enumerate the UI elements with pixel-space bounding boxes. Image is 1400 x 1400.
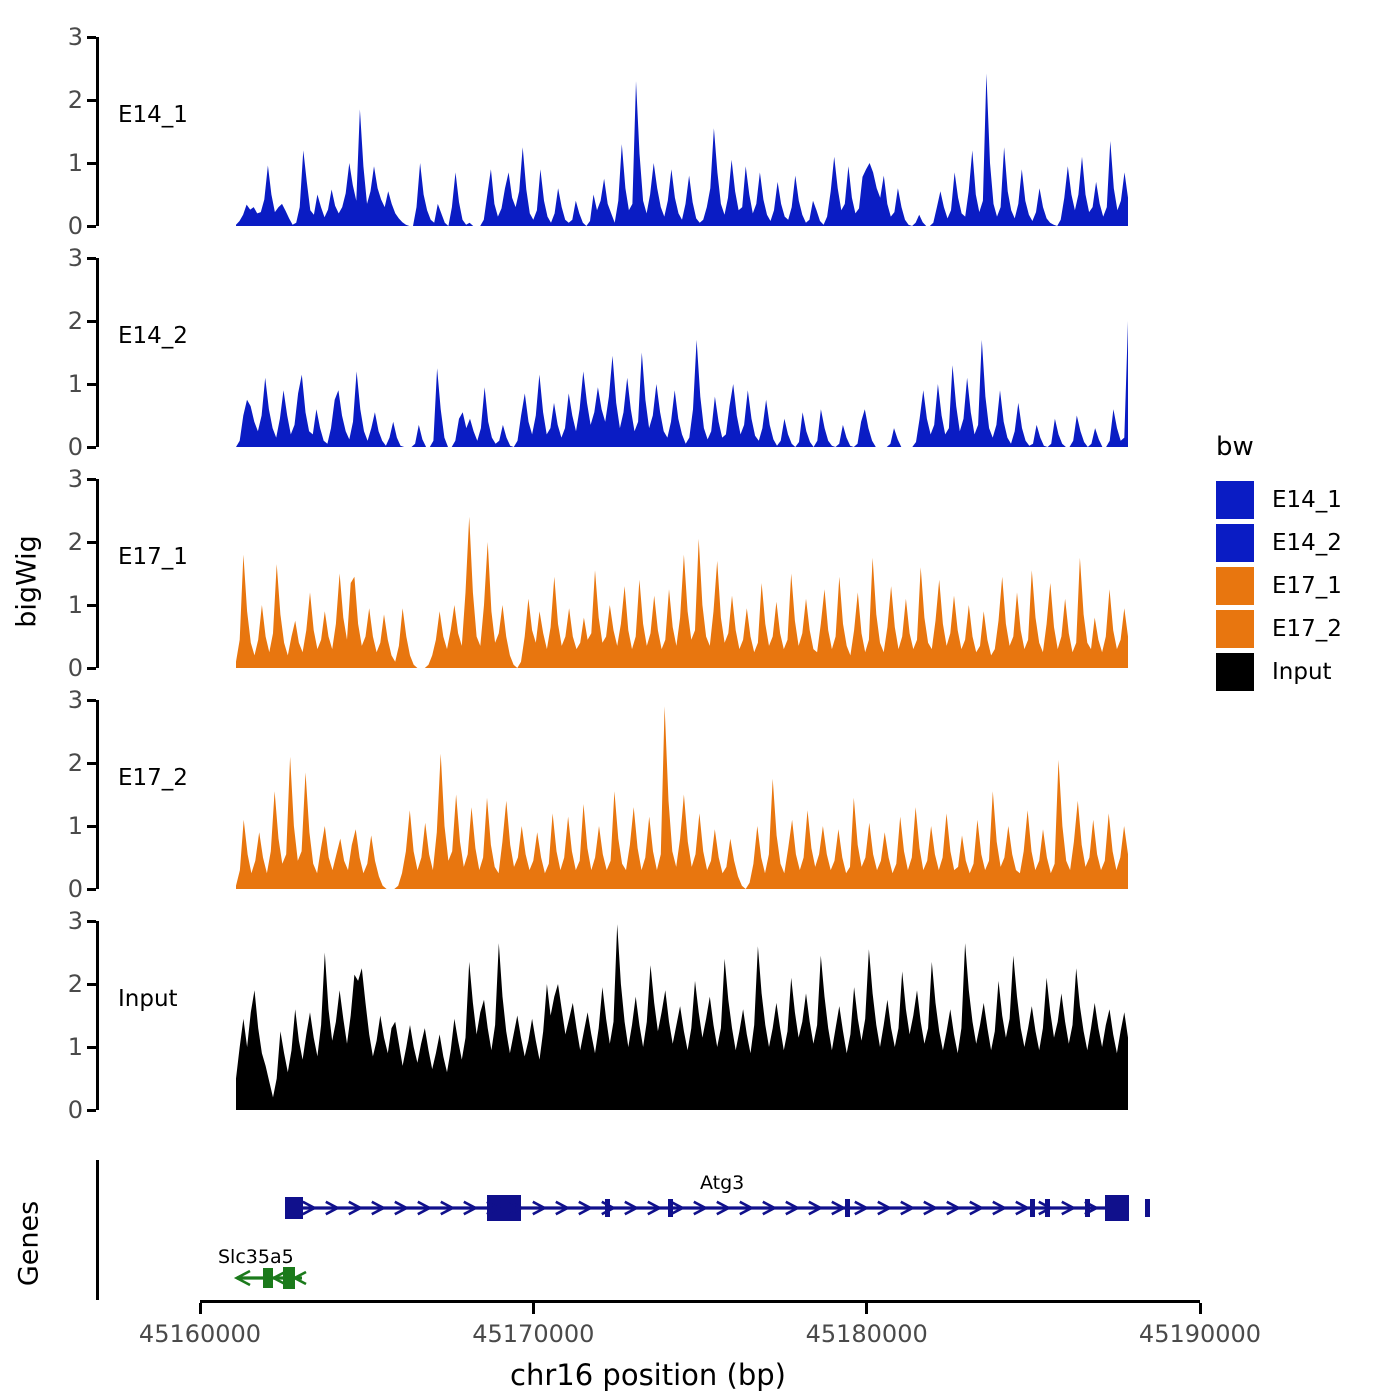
y-tick-label: 2 [68, 751, 83, 775]
y-tick [87, 762, 96, 765]
y-tick [87, 699, 96, 702]
y-tick [87, 99, 96, 102]
legend-title: bw [1216, 432, 1386, 462]
y-tick-label: 2 [68, 309, 83, 333]
y-tick-label: 3 [68, 909, 83, 933]
y-tick-label: 3 [68, 467, 83, 491]
y-tick [87, 225, 96, 228]
genome-browser-plot: bigWig Genes 3210E14_13210E14_23210E17_1… [0, 0, 1400, 1400]
legend: bw E14_1E14_2E17_1E17_2Input [1216, 432, 1386, 695]
track-area-input [99, 921, 1200, 1110]
legend-swatch-icon [1216, 567, 1254, 605]
y-tick [87, 983, 96, 986]
y-tick [87, 825, 96, 828]
y-tick-label: 0 [68, 1098, 83, 1122]
x-tick [865, 1303, 868, 1314]
y-axis-group-label-bigwig: bigWig [12, 522, 43, 642]
y-tick-label: 1 [68, 593, 83, 617]
track-area-e14_1 [99, 37, 1200, 226]
y-tick-label: 0 [68, 214, 83, 238]
y-tick [87, 446, 96, 449]
y-tick-label: 1 [68, 814, 83, 838]
y-tick [87, 383, 96, 386]
y-tick [87, 667, 96, 670]
y-tick-label: 0 [68, 877, 83, 901]
y-tick [87, 920, 96, 923]
y-tick-label: 1 [68, 372, 83, 396]
x-tick-label: 45190000 [1139, 1320, 1261, 1348]
y-axis-group-label-genes: Genes [14, 1189, 45, 1299]
y-tick-label: 3 [68, 25, 83, 49]
genes-panel: Atg3 Slc35a5 [96, 1160, 1200, 1300]
legend-item-label: E14_1 [1272, 487, 1342, 513]
y-tick [87, 604, 96, 607]
y-tick [87, 162, 96, 165]
y-tick [87, 541, 96, 544]
track-area-e14_2 [99, 258, 1200, 447]
gene-models-svg [99, 1160, 1200, 1300]
y-tick [87, 478, 96, 481]
legend-item-label: Input [1272, 659, 1332, 685]
x-tick-label: 45160000 [139, 1320, 261, 1348]
x-tick [199, 1303, 202, 1314]
x-tick-label: 45180000 [806, 1320, 928, 1348]
x-axis-title: chr16 position (bp) [96, 1358, 1200, 1392]
y-tick-label: 3 [68, 688, 83, 712]
x-tick-label: 45170000 [472, 1320, 594, 1348]
legend-swatch-icon [1216, 653, 1254, 691]
track-panel-e14_1: 3210E14_1 [96, 37, 1200, 226]
legend-item-e14_2[interactable]: E14_2 [1216, 523, 1386, 563]
y-tick-label: 2 [68, 88, 83, 112]
x-axis: 45160000451700004518000045190000 chr16 p… [96, 1300, 1200, 1400]
y-tick-label: 2 [68, 530, 83, 554]
legend-item-label: E17_1 [1272, 573, 1342, 599]
y-tick-label: 3 [68, 246, 83, 270]
y-tick [87, 1109, 96, 1112]
x-tick [1199, 1303, 1202, 1314]
legend-item-e14_1[interactable]: E14_1 [1216, 480, 1386, 520]
y-tick-label: 1 [68, 1035, 83, 1059]
y-tick-label: 0 [68, 435, 83, 459]
legend-item-e17_1[interactable]: E17_1 [1216, 566, 1386, 606]
legend-swatch-icon [1216, 481, 1254, 519]
y-tick-label: 2 [68, 972, 83, 996]
track-panel-e14_2: 3210E14_2 [96, 258, 1200, 447]
legend-items: E14_1E14_2E17_1E17_2Input [1216, 480, 1386, 692]
y-tick [87, 320, 96, 323]
y-tick [87, 1046, 96, 1049]
track-area-e17_2 [99, 700, 1200, 889]
legend-item-label: E17_2 [1272, 616, 1342, 642]
y-tick [87, 888, 96, 891]
y-tick [87, 36, 96, 39]
legend-swatch-icon [1216, 610, 1254, 648]
legend-item-label: E14_2 [1272, 530, 1342, 556]
x-tick [532, 1303, 535, 1314]
track-panel-input: 3210Input [96, 921, 1200, 1110]
legend-item-e17_2[interactable]: E17_2 [1216, 609, 1386, 649]
legend-swatch-icon [1216, 524, 1254, 562]
y-tick-label: 0 [68, 656, 83, 680]
track-panel-e17_1: 3210E17_1 [96, 479, 1200, 668]
legend-item-input[interactable]: Input [1216, 652, 1386, 692]
y-tick-label: 1 [68, 151, 83, 175]
track-area-e17_1 [99, 479, 1200, 668]
y-tick [87, 257, 96, 260]
track-panel-e17_2: 3210E17_2 [96, 700, 1200, 889]
x-axis-line [200, 1300, 1200, 1303]
